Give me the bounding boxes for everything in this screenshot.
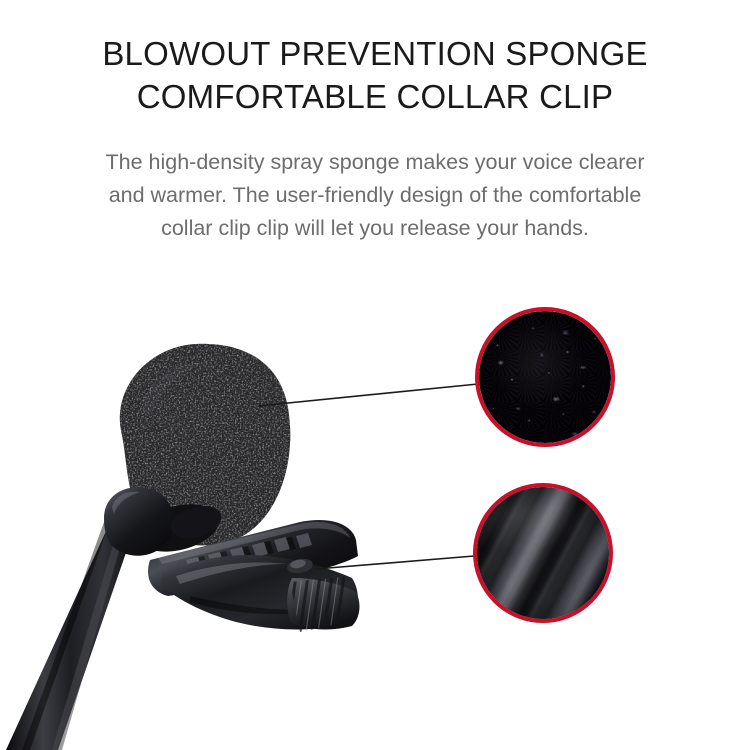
callout-clip-detail[interactable]: [473, 483, 613, 623]
callout-sponge-detail[interactable]: [475, 307, 615, 447]
product-feature-page: BLOWOUT PREVENTION SPONGE COMFORTABLE CO…: [0, 0, 750, 750]
product-illustration: [0, 260, 750, 750]
page-headline: BLOWOUT PREVENTION SPONGE COMFORTABLE CO…: [0, 32, 750, 119]
headline-line-1: BLOWOUT PREVENTION SPONGE: [0, 32, 750, 76]
leader-line-sponge: [258, 384, 478, 406]
sponge-vignette: [479, 311, 611, 443]
page-body-text: The high-density spray sponge makes your…: [88, 146, 662, 245]
callout-sponge-image: [479, 311, 611, 443]
headline-line-2: COMFORTABLE COLLAR CLIP: [0, 75, 750, 119]
callout-clip-image: [477, 487, 609, 619]
clip-ridge-specular: [477, 487, 609, 619]
